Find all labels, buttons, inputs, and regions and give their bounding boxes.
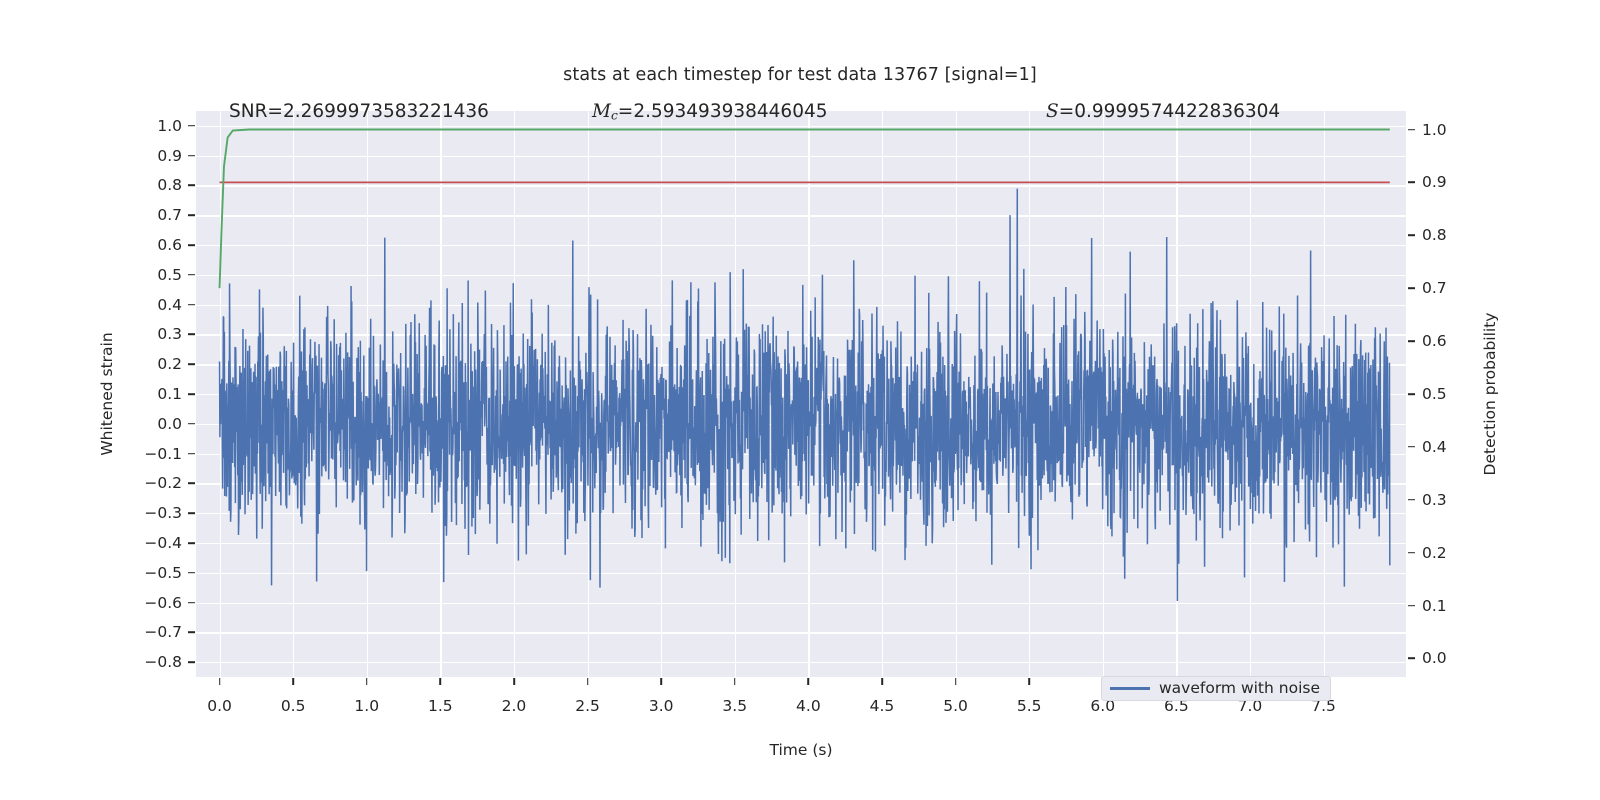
y-tick-label-left: 0.9 <box>110 147 182 165</box>
y-tick-label-left: 0.0 <box>110 415 182 433</box>
y-tick-label-left: 0.8 <box>110 176 182 194</box>
annotation-mc-subscript: c <box>611 109 618 123</box>
x-tick-label: 2.0 <box>484 697 544 715</box>
page-title: stats at each timestep for test data 137… <box>0 65 1600 85</box>
x-tick-label: 4.5 <box>852 697 912 715</box>
x-tick-mark <box>440 678 442 685</box>
x-tick-label: 2.5 <box>558 697 618 715</box>
x-tick-mark <box>881 678 883 685</box>
y-tick-mark-right <box>1408 287 1415 289</box>
y-axis-label-left: Whitened strain <box>98 332 116 455</box>
y-tick-mark-left <box>188 483 195 485</box>
x-tick-mark <box>366 678 368 685</box>
x-tick-label: 1.5 <box>410 697 470 715</box>
x-tick-mark <box>219 678 221 685</box>
y-tick-mark-left <box>188 214 195 216</box>
y-tick-mark-right <box>1408 658 1415 660</box>
plot-area[interactable] <box>196 111 1406 677</box>
detection-probability-path <box>220 130 1390 289</box>
y-tick-mark-right <box>1408 605 1415 607</box>
y-tick-label-left: 0.2 <box>110 355 182 373</box>
y-tick-label-right: 1.0 <box>1422 121 1482 139</box>
legend-label-waveform: waveform with noise <box>1159 681 1320 697</box>
x-tick-mark <box>734 678 736 685</box>
y-tick-label-left: 0.4 <box>110 296 182 314</box>
annotation-chirp-mass: Mc=2.593493938446045 <box>592 101 828 123</box>
y-tick-mark-left <box>188 274 195 276</box>
legend[interactable]: waveform with noise <box>1101 676 1331 701</box>
y-tick-label-left: −0.4 <box>110 534 182 552</box>
matplotlib-figure: stats at each timestep for test data 137… <box>0 0 1600 800</box>
x-tick-mark <box>660 678 662 685</box>
y-tick-mark-right <box>1408 129 1415 131</box>
x-tick-mark <box>1028 678 1030 685</box>
y-tick-mark-right <box>1408 235 1415 237</box>
y-tick-mark-left <box>188 632 195 634</box>
y-tick-label-left: −0.5 <box>110 564 182 582</box>
y-tick-label-right: 0.0 <box>1422 649 1482 667</box>
y-tick-mark-left <box>188 363 195 365</box>
x-tick-label: 5.0 <box>926 697 986 715</box>
y-tick-mark-right <box>1408 552 1415 554</box>
annotation-s-equals: = <box>1059 101 1075 122</box>
y-tick-label-left: −0.8 <box>110 653 182 671</box>
y-tick-label-right: 0.1 <box>1422 597 1482 615</box>
y-tick-label-left: 0.7 <box>110 206 182 224</box>
annotation-s-symbol: S <box>1046 101 1059 122</box>
y-axis-label-right: Detection probability <box>1481 313 1499 476</box>
y-tick-label-left: 1.0 <box>110 117 182 135</box>
y-tick-label-right: 0.5 <box>1422 385 1482 403</box>
y-tick-label-right: 0.9 <box>1422 173 1482 191</box>
x-tick-label: 4.0 <box>778 697 838 715</box>
y-tick-mark-right <box>1408 446 1415 448</box>
y-tick-mark-left <box>188 393 195 395</box>
x-tick-label: 1.0 <box>337 697 397 715</box>
y-tick-mark-left <box>188 334 195 336</box>
y-tick-label-left: −0.2 <box>110 474 182 492</box>
y-tick-label-right: 0.7 <box>1422 279 1482 297</box>
y-tick-mark-left <box>188 155 195 157</box>
annotation-s-value: 0.9999574422836304 <box>1074 101 1280 122</box>
y-tick-label-right: 0.6 <box>1422 332 1482 350</box>
y-tick-mark-right <box>1408 182 1415 184</box>
y-tick-label-right: 0.8 <box>1422 226 1482 244</box>
y-tick-mark-left <box>188 572 195 574</box>
y-tick-mark-left <box>188 661 195 663</box>
x-tick-mark <box>808 678 810 685</box>
y-tick-label-left: −0.3 <box>110 504 182 522</box>
y-tick-label-left: 0.3 <box>110 325 182 343</box>
y-tick-mark-left <box>188 512 195 514</box>
annotation-mc-symbol: M <box>592 101 611 122</box>
x-tick-label: 3.5 <box>705 697 765 715</box>
y-tick-mark-left <box>188 125 195 127</box>
y-tick-label-left: −0.1 <box>110 445 182 463</box>
y-tick-label-left: 0.1 <box>110 385 182 403</box>
y-tick-mark-left <box>188 304 195 306</box>
annotation-snr-value: 2.2699973583221436 <box>283 101 489 122</box>
legend-swatch-waveform <box>1110 687 1150 689</box>
y-tick-label-left: 0.5 <box>110 266 182 284</box>
annotation-snr-text: SNR= <box>229 101 283 122</box>
x-tick-mark <box>513 678 515 685</box>
annotation-mc-equals: = <box>618 101 634 122</box>
y-tick-mark-left <box>188 602 195 604</box>
x-tick-mark <box>292 678 294 685</box>
y-tick-mark-left <box>188 453 195 455</box>
x-tick-label: 3.0 <box>631 697 691 715</box>
y-tick-mark-left <box>188 185 195 187</box>
y-tick-label-left: −0.7 <box>110 623 182 641</box>
y-tick-mark-right <box>1408 499 1415 501</box>
y-tick-label-right: 0.3 <box>1422 491 1482 509</box>
y-tick-label-left: −0.6 <box>110 594 182 612</box>
probability-and-threshold-series <box>196 111 1406 677</box>
y-tick-mark-left <box>188 423 195 425</box>
annotation-signal-score: S=0.9999574422836304 <box>1046 101 1280 122</box>
x-tick-label: 5.5 <box>999 697 1059 715</box>
x-tick-label: 0.0 <box>190 697 250 715</box>
y-tick-label-right: 0.2 <box>1422 544 1482 562</box>
x-axis-label: Time (s) <box>769 741 832 759</box>
x-tick-mark <box>587 678 589 685</box>
y-tick-mark-right <box>1408 393 1415 395</box>
y-tick-mark-right <box>1408 340 1415 342</box>
x-tick-label: 0.5 <box>263 697 323 715</box>
x-tick-mark <box>955 678 957 685</box>
y-tick-label-right: 0.4 <box>1422 438 1482 456</box>
y-tick-mark-left <box>188 244 195 246</box>
y-tick-label-left: 0.6 <box>110 236 182 254</box>
y-tick-mark-left <box>188 542 195 544</box>
annotation-snr: SNR=2.2699973583221436 <box>229 101 489 122</box>
annotation-mc-value: 2.593493938446045 <box>633 101 827 122</box>
